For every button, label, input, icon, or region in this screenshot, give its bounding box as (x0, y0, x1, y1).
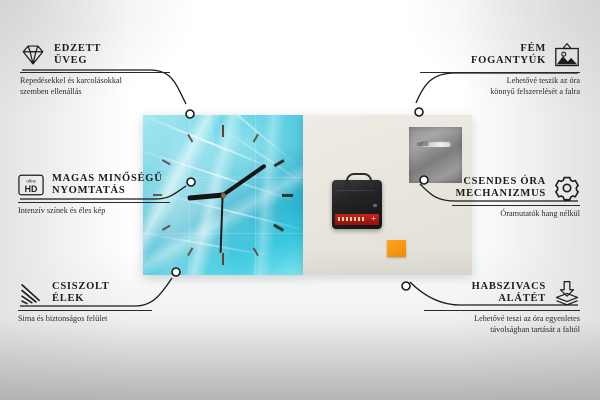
product-clock-back: + (303, 115, 472, 275)
clock-mechanism: + (332, 180, 382, 229)
svg-text:HD: HD (25, 184, 38, 194)
callout-metal-handles[interactable]: FÉM FOGANTYÚK Lehetővé teszik az óra kön… (420, 42, 580, 97)
callout-desc: Repedésekkel és karcolásokkal szemben el… (20, 76, 170, 97)
callout-title: FÉM FOGANTYÚK (420, 43, 546, 68)
arrow-down-pad-icon (554, 280, 580, 306)
mechanism-loop (346, 173, 372, 187)
infographic-canvas: + (0, 0, 600, 400)
callout-rule (20, 72, 170, 73)
callout-desc: Sima és biztonságos felület (18, 314, 152, 325)
callout-desc: Óramutatók hang nélkül (452, 209, 580, 220)
clock-center-cap (221, 193, 226, 198)
callout-title: EDZETT ÜVEG (54, 43, 101, 68)
callout-silent-mechanism[interactable]: CSENDES ÓRA MECHANIZMUS Óramutatók hang … (452, 175, 580, 220)
mechanism-seam (337, 190, 375, 191)
hanger-slot-shadow (417, 142, 429, 146)
battery-label: + (335, 214, 379, 225)
callout-desc: Lehetővé teszik az óra könnyű felszerelé… (420, 76, 580, 97)
callout-desc: Lehetővé teszi az óra egyenletes távolsá… (424, 314, 580, 335)
callout-high-quality-print[interactable]: ultra HD MAGAS MINŐSÉGŰ NYOMTATÁS Intenz… (18, 172, 170, 217)
diamond-icon (20, 42, 46, 68)
callout-title: MAGAS MINŐSÉGŰ NYOMTATÁS (52, 173, 163, 198)
picture-frame-hanger-icon (554, 42, 580, 68)
callout-title: HABSZIVACS ALÁTÉT (424, 281, 546, 306)
callout-desc: Intenzív színek és éles kép (18, 206, 170, 217)
callout-rule (18, 202, 170, 203)
callout-foam-pad[interactable]: HABSZIVACS ALÁTÉT Lehetővé teszi az óra … (424, 280, 580, 335)
callout-tempered-glass[interactable]: EDZETT ÜVEG Repedésekkel és karcolásokka… (20, 42, 170, 97)
callout-rule (420, 72, 580, 73)
gear-icon (554, 175, 580, 201)
callout-title: CSISZOLT ÉLEK (52, 281, 110, 306)
callout-rule (18, 310, 152, 311)
callout-rule (424, 310, 580, 311)
battery-plus-sign: + (371, 215, 376, 223)
ultra-hd-icon: ultra HD (18, 172, 44, 198)
callout-polished-edges[interactable]: CSISZOLT ÉLEK Sima és biztonságos felüle… (18, 280, 152, 325)
clock-tick-12 (222, 125, 224, 195)
mechanism-indicator (373, 204, 377, 207)
callout-title: CSENDES ÓRA MECHANIZMUS (452, 176, 546, 201)
callout-rule (452, 205, 580, 206)
polished-edges-icon (18, 280, 44, 306)
clock-tick-3 (223, 194, 293, 196)
back-panel-shadow (303, 249, 472, 275)
